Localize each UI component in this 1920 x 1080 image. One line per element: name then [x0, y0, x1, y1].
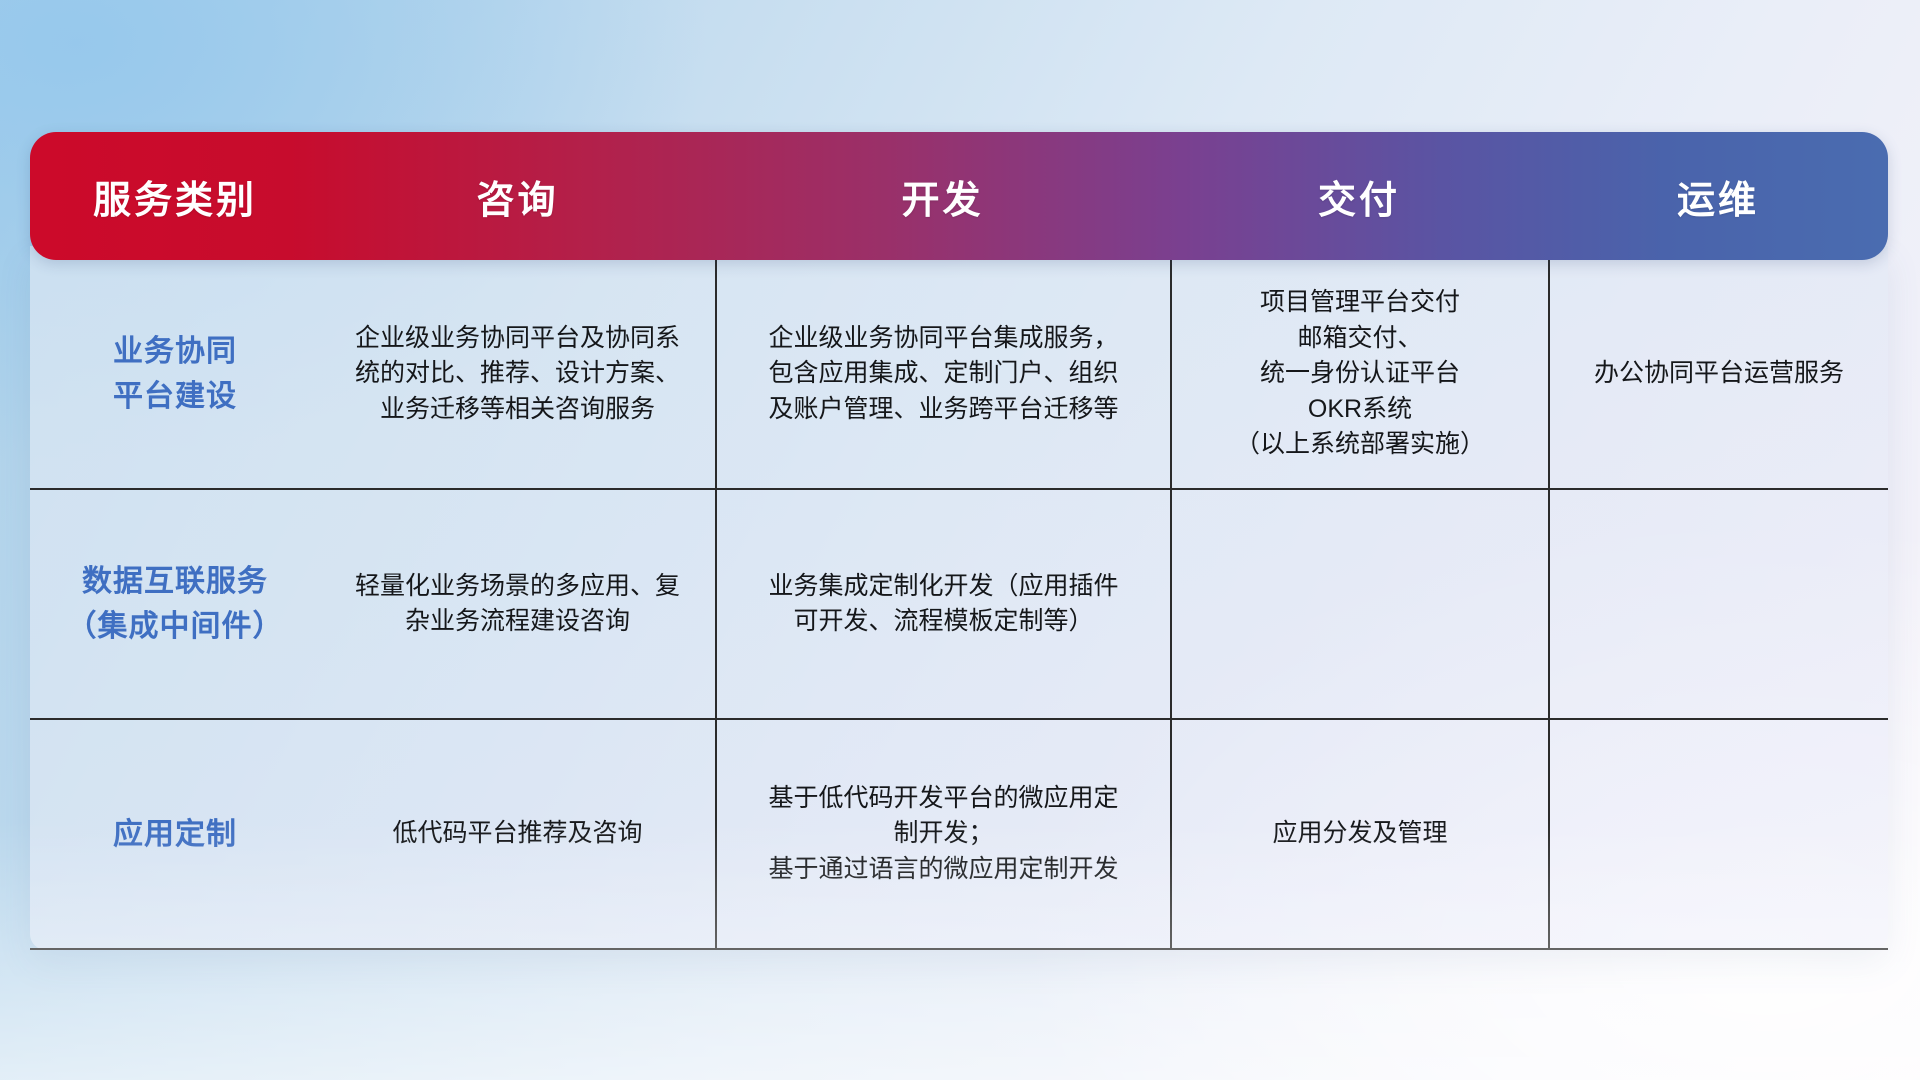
table-body: 业务协同 平台建设 企业级业务协同平台及协同系 统的对比、推荐、设计方案、 业务…	[30, 246, 1888, 950]
cell-consulting: 低代码平台推荐及咨询	[320, 720, 715, 948]
cell-delivery: 项目管理平台交付 邮箱交付、 统一身份认证平台 OKR系统 （以上系统部署实施）	[1170, 260, 1548, 488]
table-row: 数据互联服务 （集成中间件） 轻量化业务场景的多应用、复 杂业务流程建设咨询 业…	[30, 488, 1888, 718]
cell-development: 企业级业务协同平台集成服务， 包含应用集成、定制门户、组织 及账户管理、业务跨平…	[715, 260, 1170, 488]
cell-operations	[1548, 490, 1888, 718]
cell-operations: 办公协同平台运营服务	[1548, 260, 1888, 488]
cell-consulting: 轻量化业务场景的多应用、复 杂业务流程建设咨询	[320, 490, 715, 718]
cell-delivery: 应用分发及管理	[1170, 720, 1548, 948]
cell-consulting: 企业级业务协同平台及协同系 统的对比、推荐、设计方案、 业务迁移等相关咨询服务	[320, 260, 715, 488]
table-row: 业务协同 平台建设 企业级业务协同平台及协同系 统的对比、推荐、设计方案、 业务…	[30, 260, 1888, 488]
service-matrix-table: 服务类别 咨询 开发 交付 运维 业务协同 平台建设 企业级业务协同平台及协同系…	[30, 132, 1888, 950]
cell-development: 业务集成定制化开发（应用插件 可开发、流程模板定制等）	[715, 490, 1170, 718]
cell-operations	[1548, 720, 1888, 948]
page-root: 服务类别 咨询 开发 交付 运维 业务协同 平台建设 企业级业务协同平台及协同系…	[0, 0, 1920, 1080]
table-row: 应用定制 低代码平台推荐及咨询 基于低代码开发平台的微应用定 制开发； 基于通过…	[30, 718, 1888, 950]
header-consulting: 咨询	[320, 132, 715, 260]
header-development: 开发	[715, 132, 1170, 260]
header-delivery: 交付	[1170, 132, 1548, 260]
table-header-row: 服务类别 咨询 开发 交付 运维	[30, 132, 1888, 260]
cell-delivery	[1170, 490, 1548, 718]
cell-development: 基于低代码开发平台的微应用定 制开发； 基于通过语言的微应用定制开发	[715, 720, 1170, 948]
row-category-label: 应用定制	[30, 720, 320, 948]
row-category-label: 数据互联服务 （集成中间件）	[30, 490, 320, 718]
row-category-label: 业务协同 平台建设	[30, 260, 320, 488]
header-service-category: 服务类别	[30, 132, 320, 260]
header-operations: 运维	[1548, 132, 1888, 260]
